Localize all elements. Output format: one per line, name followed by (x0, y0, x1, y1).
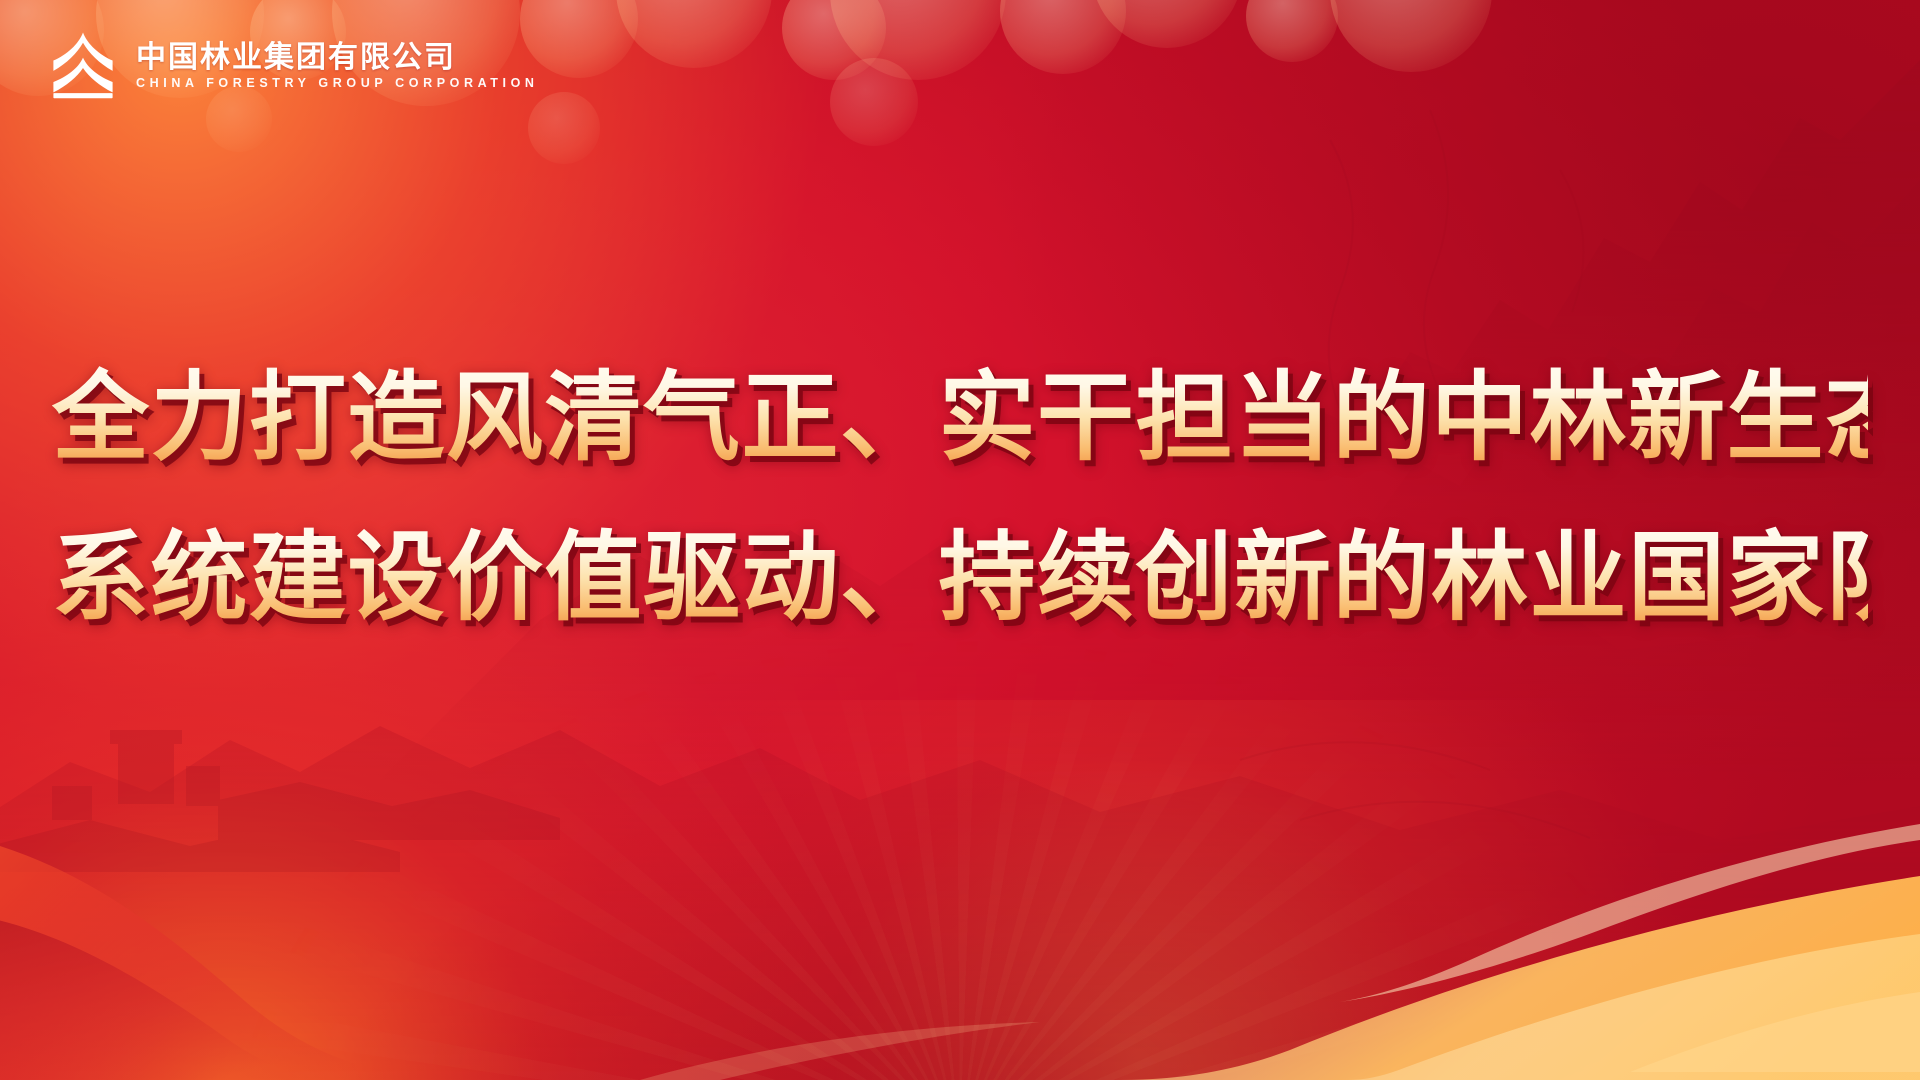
brand-logo-lockup[interactable]: 中国林业集团有限公司 CHINA FORESTRY GROUP CORPORAT… (46, 28, 539, 102)
brand-wordmark: 中国林业集团有限公司 CHINA FORESTRY GROUP CORPORAT… (136, 39, 539, 91)
brand-name-cn: 中国林业集团有限公司 (136, 42, 539, 74)
orange-glow-center (538, 700, 1738, 1080)
promotional-banner: 中国林业集团有限公司 CHINA FORESTRY GROUP CORPORAT… (0, 0, 1920, 1080)
headline-line-2: 系统建设价值驱动、持续创新的林业国家队 (52, 512, 1868, 644)
china-forestry-pagoda-mark-icon (46, 28, 120, 102)
headline-line-1: 全力打造风清气正、实干担当的中林新生态 (52, 352, 1868, 484)
gold-silk-ribbon-icon (0, 720, 1920, 1080)
brand-name-en: CHINA FORESTRY GROUP CORPORATION (136, 77, 539, 91)
headline-block: 全力打造风清气正、实干担当的中林新生态 系统建设价值驱动、持续创新的林业国家队 (0, 352, 1920, 644)
